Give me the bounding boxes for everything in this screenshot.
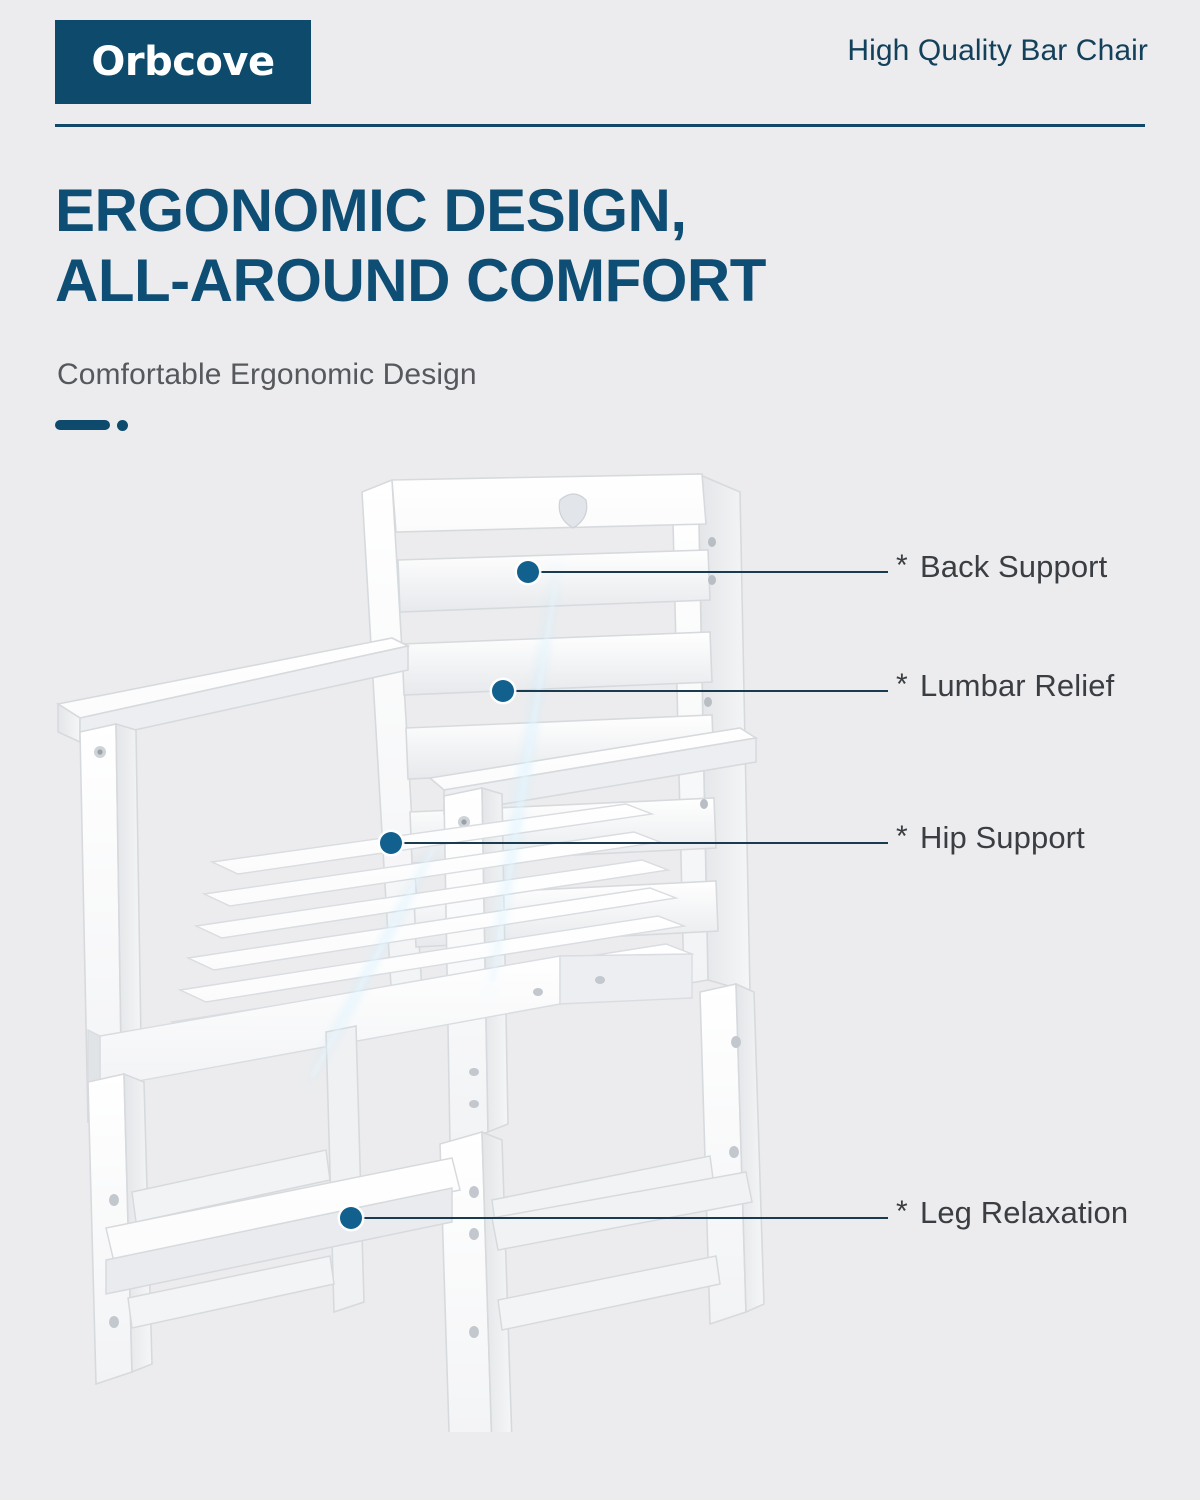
asterisk-icon: * bbox=[896, 670, 908, 700]
page-header: Orbcove High Quality Bar Chair bbox=[0, 0, 1200, 130]
headline-line-2: ALL-AROUND COMFORT bbox=[55, 246, 955, 316]
header-divider bbox=[55, 124, 1145, 127]
callout-dot[interactable] bbox=[492, 680, 514, 702]
callout-dot[interactable] bbox=[380, 832, 402, 854]
asterisk-icon: * bbox=[896, 1197, 908, 1227]
callout-leader-line bbox=[359, 1217, 888, 1219]
bar-chair-illustration bbox=[40, 432, 820, 1432]
accent-bar bbox=[55, 420, 110, 430]
headline-line-1: ERGONOMIC DESIGN, bbox=[55, 177, 687, 244]
callout-leader-line bbox=[536, 571, 888, 573]
asterisk-icon: * bbox=[896, 551, 908, 581]
page-subtitle: Comfortable Ergonomic Design bbox=[57, 358, 477, 392]
callout-label: Leg Relaxation bbox=[920, 1195, 1128, 1231]
accent-dot bbox=[117, 420, 128, 431]
accent-underline bbox=[55, 418, 125, 432]
product-stage: * Back Support * Lumbar Relief * Hip Sup… bbox=[0, 432, 1200, 1500]
chair-footrest bbox=[106, 1150, 752, 1330]
asterisk-icon: * bbox=[896, 822, 908, 852]
callout-label: Hip Support bbox=[920, 820, 1085, 856]
callout-label: Lumbar Relief bbox=[920, 668, 1114, 704]
brand-logo: Orbcove bbox=[55, 20, 311, 104]
callout-dot[interactable] bbox=[340, 1207, 362, 1229]
callout-dot[interactable] bbox=[517, 561, 539, 583]
brand-logo-text: Orbcove bbox=[91, 39, 274, 85]
page-headline: ERGONOMIC DESIGN, ALL-AROUND COMFORT bbox=[55, 176, 955, 316]
callout-leader-line bbox=[399, 842, 888, 844]
infographic-page: Orbcove High Quality Bar Chair ERGONOMIC… bbox=[0, 0, 1200, 1500]
header-product-title: High Quality Bar Chair bbox=[847, 34, 1148, 68]
callout-label: Back Support bbox=[920, 549, 1107, 585]
callout-leader-line bbox=[511, 690, 888, 692]
